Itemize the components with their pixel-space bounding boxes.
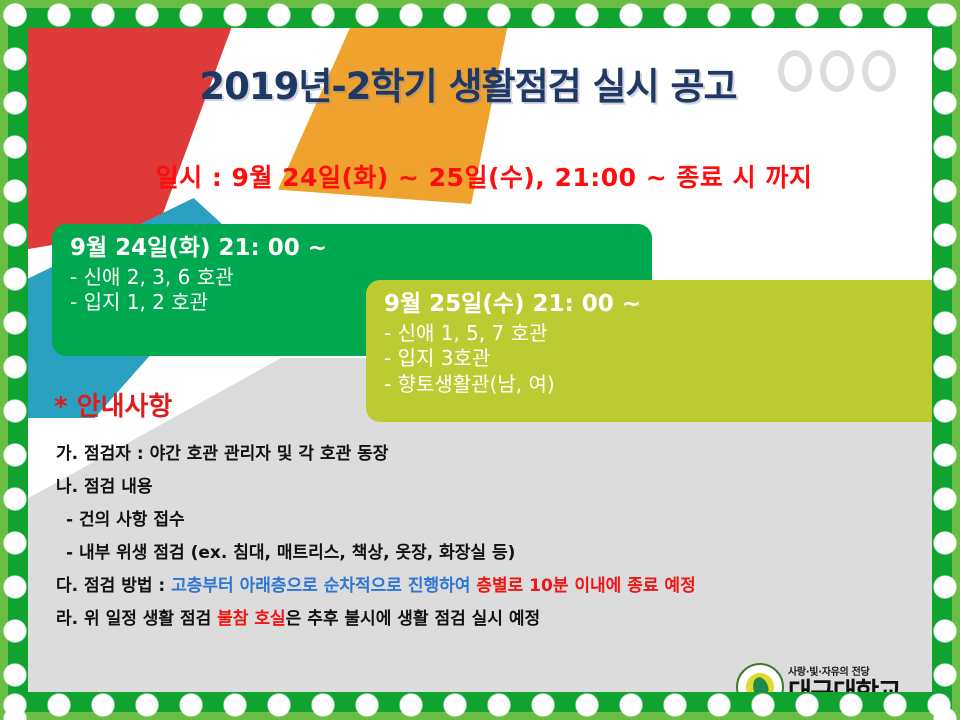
notice-text-segment: 다. 점검 방법 : bbox=[56, 576, 171, 596]
datetime-headline: 일시 : 9월 24일(화) ~ 25일(수), 21:00 ~ 종료 시 까지 bbox=[44, 158, 924, 194]
notice-line-method: 다. 점검 방법 : 고층부터 아래층으로 순차적으로 진행하여 층별로 10분… bbox=[56, 578, 906, 595]
notice-text-segment: 층별로 10분 이내에 종료 예정 bbox=[476, 576, 695, 596]
schedule-day2-item: - 신애 1, 5, 7 호관 bbox=[384, 321, 932, 347]
schedule-box-day2: 9월 25일(수) 21: 00 ~ - 신애 1, 5, 7 호관 - 입지 … bbox=[366, 280, 932, 422]
schedule-day2-header: 9월 25일(수) 21: 00 ~ bbox=[384, 290, 932, 319]
page-title: 2019년-2학기 생활점검 실시 공고 bbox=[28, 56, 908, 110]
schedule-day2-item: - 입지 3호관 bbox=[384, 346, 932, 372]
notice-text-segment: 은 추후 불시에 생활 점검 실시 예정 bbox=[286, 609, 540, 629]
logo-university-name: 대구대학교 bbox=[788, 680, 900, 692]
notice-text-segment: 나. 점검 내용 bbox=[56, 477, 153, 497]
notice-text-segment: - 건의 사항 접수 bbox=[66, 510, 185, 530]
notice-text-segment: - 내부 위생 점검 (ex. 침대, 매트리스, 책상, 옷장, 화장실 등) bbox=[66, 543, 515, 563]
polka-dots-right bbox=[930, 0, 960, 720]
notice-text-segment: 고층부터 아래층으로 순차적으로 진행하여 bbox=[171, 576, 476, 596]
notice-heading: * 안내사항 bbox=[54, 386, 172, 423]
notice-list: 가. 점검자 : 야간 호관 관리자 및 각 호관 동장나. 점검 내용- 건의… bbox=[56, 446, 906, 644]
polka-dots-left bbox=[0, 0, 30, 720]
notice-line-absent: 라. 위 일정 생활 점검 불참 호실은 추후 불시에 생활 점검 실시 예정 bbox=[56, 611, 906, 628]
logo-tagline: 사랑·빛·자유의 전당 bbox=[788, 668, 900, 678]
poster-root: 2019년-2학기 생활점검 실시 공고 일시 : 9월 24일(화) ~ 25… bbox=[0, 0, 960, 720]
notice-line-contents: 나. 점검 내용 bbox=[56, 479, 906, 496]
university-emblem-icon bbox=[736, 663, 784, 692]
poster-canvas: 2019년-2학기 생활점검 실시 공고 일시 : 9월 24일(화) ~ 25… bbox=[28, 28, 932, 692]
logo-text-group: 사랑·빛·자유의 전당 대구대학교 bbox=[788, 668, 900, 692]
notice-text-segment: 가. 점검자 : 야간 호관 관리자 및 각 호관 동장 bbox=[56, 444, 388, 464]
polka-dots-bottom bbox=[0, 690, 960, 720]
schedule-day1-header: 9월 24일(화) 21: 00 ~ bbox=[70, 234, 652, 263]
notice-line-suggestions: - 건의 사항 접수 bbox=[56, 512, 906, 529]
polka-dots-top bbox=[0, 0, 960, 30]
schedule-day2-item: - 향토생활관(남, 여) bbox=[384, 372, 932, 398]
notice-line-inspector: 가. 점검자 : 야간 호관 관리자 및 각 호관 동장 bbox=[56, 446, 906, 463]
university-logo: 사랑·빛·자유의 전당 대구대학교 bbox=[736, 658, 916, 692]
notice-text-segment: 라. 위 일정 생활 점검 bbox=[56, 609, 217, 629]
notice-text-segment: 불참 호실 bbox=[217, 609, 285, 629]
notice-line-hygiene: - 내부 위생 점검 (ex. 침대, 매트리스, 책상, 옷장, 화장실 등) bbox=[56, 545, 906, 562]
